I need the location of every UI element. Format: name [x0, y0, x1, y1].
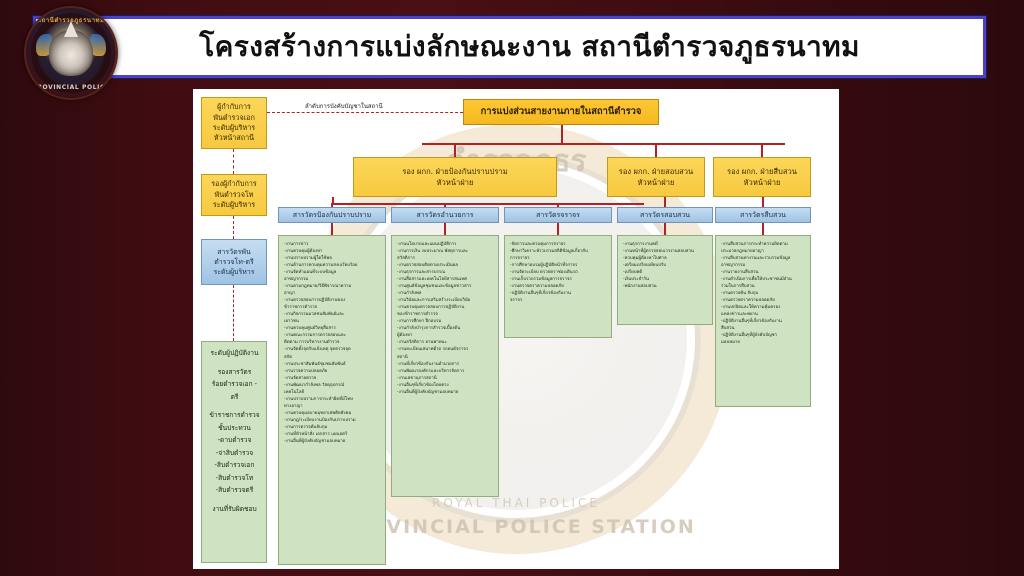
text-line: ติดตาม การบริหารงานตำรวจ — [284, 339, 381, 346]
text-line: -ดาบตำรวจ — [207, 434, 262, 447]
text-line: -สิบตำรวจเอก — [207, 459, 262, 472]
text-line: รองสารวัตร — [207, 366, 262, 379]
col-investigation-header: สารวัตรสอบสวน — [617, 207, 713, 223]
deputy-bus — [422, 143, 785, 145]
text-line: อาชญากรรม — [721, 262, 806, 269]
text-line: ทางอาญา — [284, 403, 381, 410]
command-chain-horizontal — [267, 112, 463, 113]
text-line: -งานตรวจสอบการปฏิบัติงานของ — [284, 297, 381, 304]
text-line: -งานตรวจตราความปลอดภัย — [510, 283, 607, 290]
text-line: -งานสื่อสารและเทคโนโลยีสารสนเทศ — [397, 276, 494, 283]
text-line: สารวัตรพัน — [217, 247, 251, 257]
text-line: -งานตรวจสอบติดตามประเมินผล — [397, 262, 494, 269]
column-header-label: สารวัตรจราจร — [536, 210, 580, 220]
deputy-stem — [655, 143, 657, 157]
text-line: -สิบตำรวจตรี — [207, 484, 262, 497]
text-line: -งานรวจความปลอดภัย — [284, 368, 381, 375]
deputy-investigation-box: รอง ผกก. ฝ่ายสอบสวนหัวหน้าฝ่าย — [607, 157, 705, 197]
command-chain-connector — [233, 149, 234, 174]
text-line: -งานกำลังพล — [397, 290, 494, 297]
text-line: -งานเลขานุการสถานี — [397, 375, 494, 382]
header-body-stem — [557, 223, 559, 235]
text-line: รอง ผกก. ฝ่ายป้องกันปราบปราม — [402, 166, 507, 177]
text-line: -งานสืบสวนทางานและรวบรวมข้อมูล — [721, 255, 806, 262]
text-line: ข้าราชการตำรวจ — [207, 409, 262, 422]
text-line: -งานควบคุมผู้ต้องหา — [284, 248, 381, 255]
superintendent-box: ผู้กำกับการพันตำรวจเอกระดับผู้บริหารหัวห… — [201, 97, 267, 149]
text-line: -งานควบคุมศูนย์วิทยุสื่อสาร — [284, 325, 381, 332]
text-line: -งานประชาสัมพันธ์ชุมชนสัมพันธ์ — [284, 361, 381, 368]
text-line: -งานอื่นๆที่เกี่ยวข้องโดยตรง — [397, 382, 494, 389]
text-line: -งานทะเบียนเสนาคดีรถ รถยนต์จราจร — [397, 346, 494, 353]
text-line: -งานกิจกรรมมวลชนสัมพันธ์และ — [284, 311, 381, 318]
text-line: การจราจร — [510, 255, 607, 262]
text-line: -งานพัฒนาองค์กรและบริหารจัดการ — [397, 368, 494, 375]
deputy-stem — [761, 143, 763, 157]
text-line: แหล่งข่าวและพยาน — [721, 311, 806, 318]
text-line: -ควบคุมผู้ต้องหาไปศาล — [623, 255, 708, 262]
text-line: -งานที่เกี่ยวข้องกับงานอำนวยการ — [397, 361, 494, 368]
text-line: -ปฏิบัติงานอื่นๆที่เกี่ยวข้องกับงาน — [721, 318, 806, 325]
org-chart: การแบ่งส่วนสายงานภายในสถานีตำรวจผู้กำกับ… — [193, 89, 839, 569]
text-line: -งานควบคุมอบายมุขยาเสพติดสังคม — [284, 410, 381, 417]
text-line: หัวหน้าฝ่าย — [744, 177, 781, 188]
text-line: -งานตรวจค้น จับกุม — [721, 290, 806, 297]
text-line: -งานจัดตั้งจุดรับแจ้งเหตุ จุดตรวจจุด — [284, 346, 381, 353]
text-line: -งานการเงิน งบประมาณ พัสดุการและ — [397, 248, 494, 255]
text-line: -งานอื่นที่ผู้บังคับบัญชามอบหมาย — [397, 389, 494, 396]
text-line: รอง ผกก. ฝ่ายสอบสวน — [619, 166, 694, 177]
header-body-stem — [444, 223, 446, 235]
col-investigation-body: -งานธุรการงานคดี-งานหน้าที่ผู้ตรวจสอบเวร… — [617, 235, 713, 325]
text-line: -งานวินัยและการเสริมสร้างระเบียบวินัย — [397, 297, 494, 304]
text-line: -งานสวัสดิการ ยานพาหนะ — [397, 339, 494, 346]
text-line: -การศึกษาอบรมผู้ปฏิบัติหน้าที่จราจร — [510, 262, 607, 269]
text-line: พันตำรวจเอก — [213, 113, 255, 123]
root-box: การแบ่งส่วนสายงานภายในสถานีตำรวจ — [463, 99, 659, 125]
text-line: -ปฏิบัติงานอื่นๆที่ผู้บังคับบัญชา — [721, 332, 806, 339]
text-line: ตรี — [207, 391, 262, 404]
text-line: รอง ผกก. ฝ่ายสืบสวน — [727, 166, 797, 177]
text-line: -งานคณะกรรมการตรวจสอบและ — [284, 332, 381, 339]
text-line: สืบสวน — [721, 325, 806, 332]
emblem-crest — [49, 30, 93, 76]
text-line: เยาวชน — [284, 318, 381, 325]
text-line: ระดับผู้บริหาร — [213, 123, 255, 133]
emblem-arc-bottom-label: PROVINCIAL POLICE — [26, 84, 116, 91]
col-inquiry-body: -งานสืบสวนการกระทำความผิดตามประมวลกฎหมาย… — [715, 235, 811, 407]
col-stem — [664, 197, 666, 207]
text-line: สถานี — [397, 354, 494, 361]
text-line: -งานด้านการควบคุมความสงบเรียบร้อย — [284, 262, 381, 269]
text-line: -งานกำลังบำรุงการสำรวจเบื้องต้น — [397, 325, 494, 332]
col-administration-body: -งานนโยบายและแผนปฏิบัติการ-งานการเงิน งบ… — [391, 235, 499, 497]
deputy-inquiry-box: รอง ผกก. ฝ่ายสืบสวนหัวหน้าฝ่าย — [713, 157, 811, 197]
text-line: หัวหน้าฝ่าย — [437, 177, 474, 188]
text-line: ระดับผู้ปฏิบัติงาน — [207, 347, 262, 360]
deputy-prevention-box: รอง ผกก. ฝ่ายป้องกันปราบปรามหัวหน้าฝ่าย — [353, 157, 557, 197]
text-line: -จัดการและควบคุมการจราจร — [510, 241, 607, 248]
root-stem — [561, 125, 563, 143]
text-line: อาญา — [284, 290, 381, 297]
text-line: -งานปกปิดและให้ความคุ้มครอง — [721, 304, 806, 311]
text-line: -งานจัดระเบียบ ตรวจตราช่องเดินรถ — [510, 269, 607, 276]
text-line: -งานเก็บรวบรวมข้อมูลการจราจร — [510, 276, 607, 283]
deputy-superintendent-box: รองผู้กำกับการพันตำรวจโทระดับผู้บริหาร — [201, 174, 267, 216]
police-emblem-icon: สถานีตำรวจภูธรนาทม PROVINCIAL POLICE — [26, 8, 116, 98]
text-line: งานที่รับผิดชอบ — [207, 503, 262, 516]
text-line: ข้าราชการตำรวจ — [284, 304, 381, 311]
text-line: -ปฏิบัติงานอื่นๆที่เกี่ยวข้องกับงาน — [510, 290, 607, 297]
text-line: -งานปราบปรามผู้ใดใช้พล — [284, 255, 381, 262]
text-line: ร้อยตำรวจเอก - — [207, 378, 262, 391]
command-chain-connector — [233, 285, 234, 341]
text-line: -งานควบคุมตรวจสอบการปฏิบัติงาน — [397, 304, 494, 311]
text-line: -งานนโยบายและแผนปฏิบัติการ — [397, 241, 494, 248]
text-line: ตำรวจโท-ตรี — [214, 257, 253, 267]
text-line: -ศึกษาวิเคราะห์รวบรวมสถิติข้อมูลเกี่ยวกั… — [510, 248, 607, 255]
page-title: โครงสร้างการแบ่งลักษณะงาน สถานีตำรวจภูธร… — [159, 33, 860, 61]
title-bar: โครงสร้างการแบ่งลักษณะงาน สถานีตำรวจภูธร… — [33, 16, 986, 78]
text-line: -งานพัฒนากำลังพล วัสดุอุปกรณ์ — [284, 382, 381, 389]
text-line: -จ่าสิบตำรวจ — [207, 447, 262, 460]
text-line: -งานจัดทำแผนที่ระบบข้อมูล — [284, 269, 381, 276]
operational-level-box: ระดับผู้ปฏิบัติงานรองสารวัตรร้อยตำรวจเอก… — [201, 341, 267, 563]
text-line: ผู้กำกับการ — [217, 102, 251, 112]
text-line: -งานการข่าว — [284, 241, 381, 248]
text-line: มอบหมาย — [721, 339, 806, 346]
text-line: -เตรียมเปรียบเทียบปรับ — [623, 262, 708, 269]
text-line: -สิบตำรวจโท — [207, 472, 262, 485]
column-header-label: สารวัตรสืบสวน — [740, 210, 786, 220]
text-line: อาชญากรรม — [284, 276, 381, 283]
text-line: -งานหน้าที่ผู้ตรวจสอบเวรงานสอบสวน — [623, 248, 708, 255]
col-traffic-header: สารวัตรจราจร — [504, 207, 612, 223]
col-prevention-header: สารวัตรป้องกันปราบปราม — [278, 207, 386, 223]
text-line: ชั้นประทวน — [207, 422, 262, 435]
column-header-label: สารวัตรป้องกันปราบปราม — [293, 210, 372, 220]
text-line: หัวหน้าสถานี — [214, 133, 254, 143]
text-line: ของข้าราชการตำรวจ — [397, 311, 494, 318]
text-line: สกัด — [284, 354, 381, 361]
text-line: เทคโนโลยี — [284, 389, 381, 396]
inspector-level-box: สารวัตรพันตำรวจโท-ตรีระดับผู้บริหาร — [201, 239, 267, 285]
content-panel: ตำรวจภูธร ROYAL THAI POLICE PROVINCIAL P… — [193, 89, 839, 569]
text-line: -งานศูนย์ข้อมูลชุมชนและข้อมูลข่าวสาร — [397, 283, 494, 290]
text-line: ผู้ต้องหา — [397, 332, 494, 339]
text-line: จราจร — [510, 297, 607, 304]
text-line: -งานที่หัวหน้าสั่ง เอกสาร แผนอตรี — [284, 431, 381, 438]
text-line: ระดับผู้บริหาร — [213, 200, 255, 210]
command-chain-connector — [233, 216, 234, 239]
text-line: -พนักงานสอบสวน — [623, 283, 708, 290]
text-line: -งานรายงานสืบสวน — [721, 269, 806, 276]
text-line: -งานอื่นที่ผู้บังคับบัญชามอบหมาย — [284, 438, 381, 445]
text-line: -งานตามกฎหมาย/วิธีพิจารณาความ — [284, 283, 381, 290]
prev-bus — [332, 203, 644, 205]
col-prevention-body: -งานการข่าว-งานควบคุมผู้ต้องหา-งานปราบปร… — [278, 235, 386, 565]
text-line: -งานสืบสวนการกระทำความผิดตาม — [721, 241, 806, 248]
col-administration-header: สารวัตรอำนวยการ — [391, 207, 499, 223]
text-line: ร่วมในการสืบสวน — [721, 283, 806, 290]
text-line: ระดับผู้บริหาร — [213, 267, 254, 277]
text-line: -งานจัดสายตรวจ — [284, 375, 381, 382]
text-line: -เงินประจำวัน — [623, 276, 708, 283]
col-traffic-body: -จัดการและควบคุมการจราจร-ศึกษาวิเคราะห์ร… — [504, 235, 612, 338]
root-label: การแบ่งส่วนสายงานภายในสถานีตำรวจ — [481, 105, 642, 119]
text-line: รองผู้กำกับการ — [211, 179, 256, 189]
header-body-stem — [331, 223, 333, 235]
col-inquiry-header: สารวัตรสืบสวน — [715, 207, 811, 223]
header-body-stem — [762, 223, 764, 235]
text-line: -งานการตรวจค้นจับกุม — [284, 424, 381, 431]
text-line: -งานธุรการงานคดี — [623, 241, 708, 248]
column-header-label: สารวัตรอำนวยการ — [416, 210, 473, 220]
deputy-stem — [454, 143, 456, 157]
command-chain-label: ลำดับการบังคับบัญชาในสถานี — [305, 101, 383, 111]
col-stem — [762, 197, 764, 207]
text-line: หัวหน้าฝ่าย — [638, 177, 675, 188]
text-line: -งานปราบปรามการกระทำผิดที่มีโทษ — [284, 396, 381, 403]
text-line: -งานกฎ/ระเบียบงานป้องกันปราบปราม — [284, 417, 381, 424]
text-line: -งานธุรการและสารบรรณ — [397, 269, 494, 276]
text-line: -งานการศึกษา ฝึกอบรม — [397, 318, 494, 325]
text-line: ประมวลกฎหมายอาญา — [721, 248, 806, 255]
text-line: สวัสดิการ — [397, 255, 494, 262]
text-line: -เปรียบคดี — [623, 269, 708, 276]
text-line: -งานดำเนินการเพื่อให้ประชาชนมีส่วน — [721, 276, 806, 283]
text-line: พันตำรวจโท — [214, 190, 253, 200]
text-line: -งานตรวจตราความปลอดภัย — [721, 297, 806, 304]
header-body-stem — [664, 223, 666, 235]
column-header-label: สารวัตรสอบสวน — [640, 210, 690, 220]
